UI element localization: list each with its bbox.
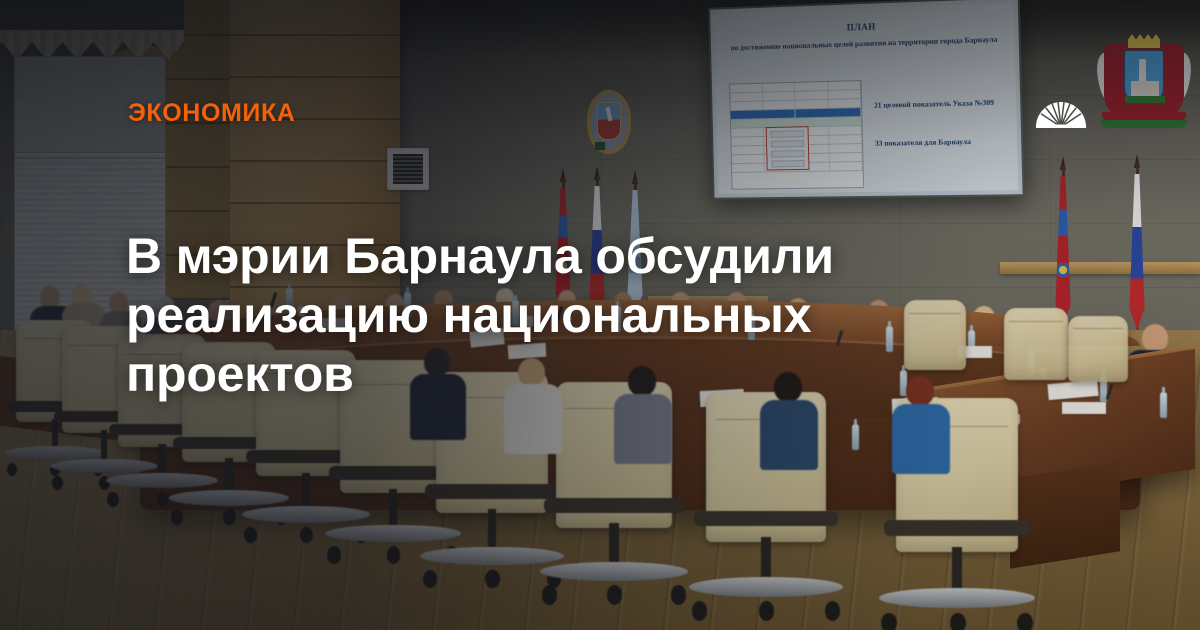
coat-of-arms-altai-krai-icon [587, 90, 631, 154]
page-title: В мэрии Барнаула обсудили реализацию нац… [126, 227, 896, 404]
flag-russia [1126, 164, 1148, 330]
half-sun-fan-logo-icon[interactable] [1035, 98, 1087, 128]
water-bottle [1160, 392, 1167, 418]
office-chair [1068, 316, 1128, 382]
ventilation-grille-icon [387, 148, 429, 190]
office-chair [1004, 308, 1068, 380]
slide-note-indicator-count: 21 целевой показатель Указа №309 [874, 96, 1016, 111]
paper-document [1062, 402, 1106, 414]
office-chair [904, 300, 966, 370]
projection-screen: ПЛАН по достижению национальных целей ра… [708, 0, 1024, 200]
slide-table [729, 80, 864, 190]
meeting-participant [892, 376, 950, 474]
head-table-leg [1010, 461, 1120, 568]
category-label[interactable]: ЭКОНОМИКА [128, 99, 296, 128]
wood-trim-band [1000, 262, 1200, 274]
slide-subtitle: по достижению национальных целей развити… [724, 33, 1004, 54]
coat-of-arms-barnaul-icon [1098, 28, 1190, 128]
water-bottle [852, 424, 859, 450]
news-share-card: ПЛАН по достижению национальных целей ра… [0, 0, 1200, 630]
slide-note-barnaul-count: 33 показателя для Барнаула [875, 135, 1017, 149]
flag-altai-krai [1052, 166, 1074, 326]
